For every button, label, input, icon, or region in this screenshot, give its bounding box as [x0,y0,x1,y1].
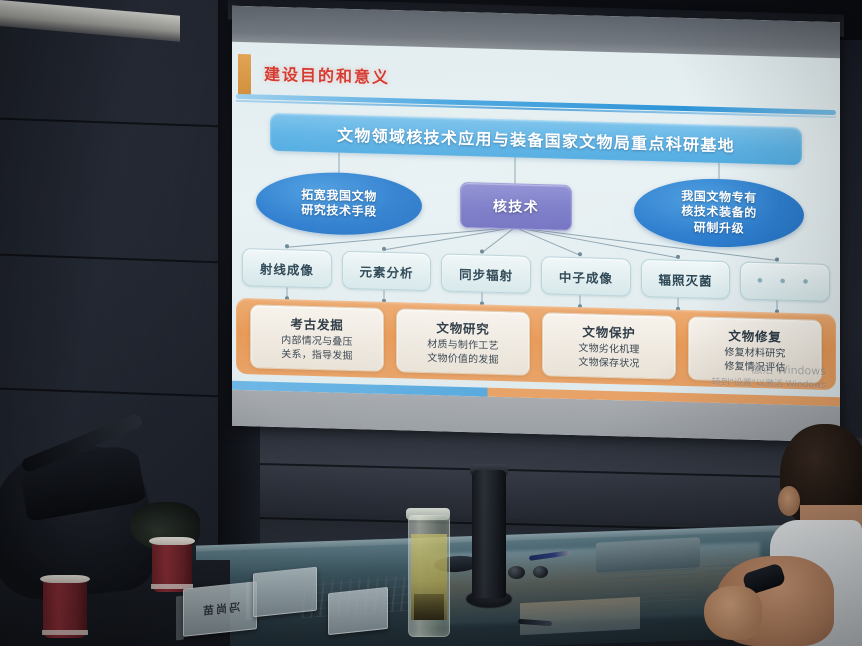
application-title: 文物修复 [728,326,781,346]
watermark-line-2: 转到"设置"以激活 Windows [712,377,826,392]
conference-room-photo: 建设目的和意义 [0,0,862,646]
tea-liquid [411,534,447,620]
application-title: 考古发掘 [290,314,343,334]
slide-banner-text: 文物领域核技术应用与装备国家文物局重点科研基地 [337,122,735,157]
windows-activation-watermark: 激活 Windows 转到"设置"以激活 Windows [712,362,826,392]
table-object [533,566,548,578]
goal-node-right: 我国文物专有核技术装备的研制升级 [634,177,804,250]
slide-banner: 文物领域核技术应用与装备国家文物局重点科研基地 [270,113,802,165]
attendee-hand [704,586,762,640]
slide-accent-bar [238,54,251,96]
application-card-research: 文物研究 材质与制作工艺 文物价值的发掘 [396,308,530,376]
application-detail-2: 文物价值的发掘 [427,352,498,367]
technique-label: 中子成像 [559,266,613,286]
application-title: 文物研究 [436,318,489,338]
application-card-archaeology: 考古发掘 内部情况与叠压 关系，指导发掘 [250,304,384,372]
name-placard: 冯尚苗 [183,581,257,637]
application-detail-2: 文物保存状况 [578,356,639,371]
technique-chip-neutron: 中子成像 [541,256,631,296]
ellipsis-icon: • • • [756,273,815,290]
name-placard-text: 冯尚苗 [201,599,240,619]
paper-cup-front [43,580,87,638]
goal-left-label: 拓宽我国文物研究技术手段 [301,187,377,220]
name-placard [253,567,317,618]
document-sheet [520,597,640,635]
technique-label: 元素分析 [360,261,414,281]
technique-chip-synchrotron: 同步辐射 [441,253,531,293]
core-technology-node: 核技术 [460,182,572,231]
technique-chip-element: 元素分析 [342,251,432,291]
technique-label: 同步辐射 [459,263,513,283]
technique-chip-row: 射线成像 元素分析 同步辐射 中子成像 辐照灭菌 • • • [242,248,830,302]
technique-label: 辐照灭菌 [659,269,713,289]
goal-right-label: 我国文物专有核技术装备的研制升级 [681,189,757,237]
technique-chip-xray: 射线成像 [242,248,332,288]
goal-node-left: 拓宽我国文物研究技术手段 [256,170,422,236]
glass-tea-tumbler [408,515,450,637]
paper-cup-back [152,542,192,592]
application-card-protection: 文物保护 文物劣化机理 文物保存状况 [542,312,676,380]
name-placard [328,587,388,635]
slide-title-divider [236,94,836,115]
technique-chip-more: • • • [740,262,830,302]
projection-screen: 建设目的和意义 [232,6,840,442]
core-technology-label: 核技术 [493,196,539,217]
technique-label: 射线成像 [260,258,314,278]
table-object [508,566,525,579]
tea-leaves [414,594,444,620]
thermos-bottle [472,470,506,598]
application-detail-2: 关系，指导发掘 [281,348,352,363]
projected-slide: 建设目的和意义 [232,42,840,406]
slide-title: 建设目的和意义 [264,61,390,88]
application-title: 文物保护 [582,322,635,342]
attendee-ear [778,486,800,516]
technique-chip-irradiation: 辐照灭菌 [641,259,731,299]
